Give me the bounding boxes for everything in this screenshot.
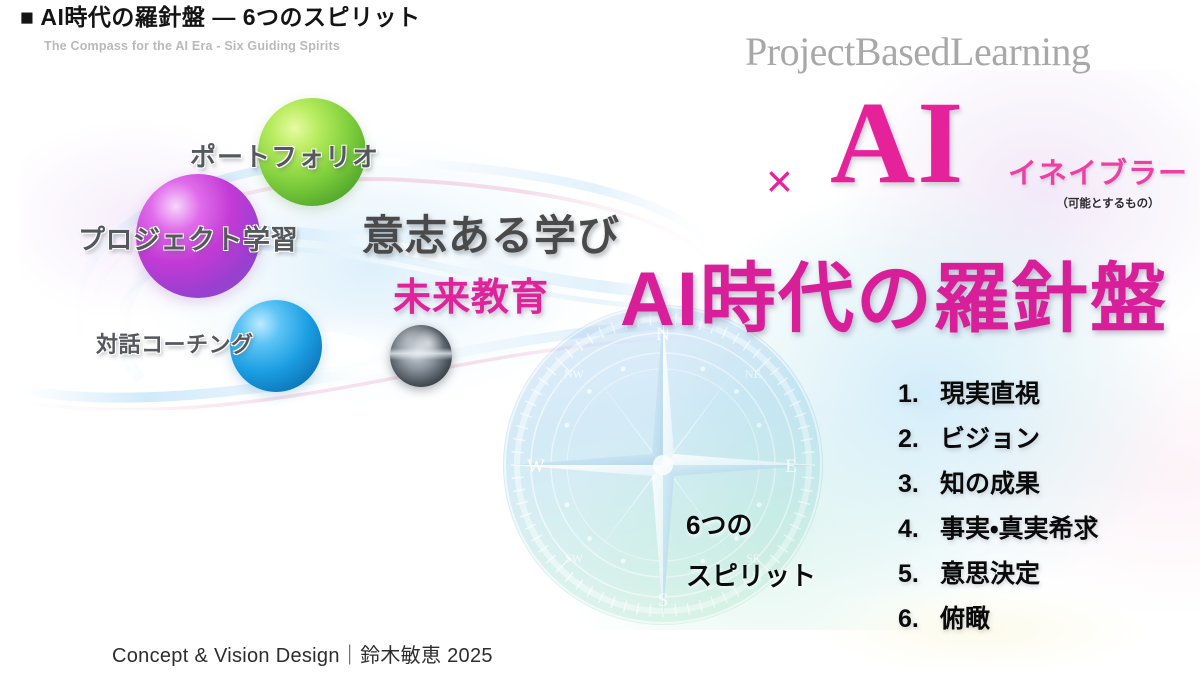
page-subtitle: The Compass for the AI Era - Six Guiding… (44, 39, 421, 53)
slide-canvas: ■ AI時代の羅針盤 ― 6つのスピリット The Compass for th… (0, 0, 1200, 676)
compass-label-ne: NE (745, 367, 761, 381)
footer-credit: Concept & Vision Design｜鈴木敏恵 2025 (112, 639, 493, 668)
sphere-moon (390, 325, 452, 387)
ai-wordmark: AI (830, 84, 965, 202)
enabler-label: イネイブラー (1008, 160, 1200, 189)
label-project-learning: プロジェクト学習 (78, 218, 298, 257)
spirit-label: 事実・真実希求 (940, 517, 1099, 542)
label-portfolio: ポートフォリオ (190, 137, 379, 174)
enabler-note: （可能とするもの） (1008, 195, 1200, 211)
enabler-block: イネイブラー （可能とするもの） (1008, 160, 1200, 211)
spirit-item-5: 5.意思決定 (898, 562, 1099, 587)
spirit-label: 俯瞰 (940, 607, 990, 632)
spirit-label: 現実直視 (940, 382, 1040, 407)
spirit-number: 6. (898, 607, 940, 632)
spirits-list: 1.現実直視2.ビジョン3.知の成果4.事実・真実希求5.意思決定6.俯瞰 (898, 382, 1099, 652)
main-title: AI時代の羅針盤 (620, 262, 1168, 338)
times-symbol-icon: × (766, 158, 793, 204)
spirit-label: ビジョン (940, 427, 1040, 452)
compass-label-sw: SW (565, 551, 584, 565)
spirit-item-3: 3.知の成果 (898, 472, 1099, 497)
spirit-number: 2. (898, 427, 940, 452)
page-title: ■ AI時代の羅針盤 ― 6つのスピリット (20, 4, 421, 32)
compass-label-nw: NW (564, 367, 585, 381)
compass-caption-line2: スピリット (686, 551, 816, 602)
spirit-number: 3. (898, 472, 940, 497)
project-based-learning-wordmark: ProjectBasedLearning (745, 28, 1090, 75)
compass-label-w: W (527, 456, 545, 477)
spirit-item-1: 1.現実直視 (898, 382, 1099, 407)
learning-main-text: 意志ある学び (362, 202, 620, 263)
spirit-item-2: 2.ビジョン (898, 427, 1099, 452)
spirit-item-6: 6.俯瞰 (898, 607, 1099, 632)
spirit-label: 意思決定 (940, 562, 1040, 587)
compass-caption-line1: 6つの (686, 500, 816, 551)
compass-label-s: S (658, 590, 669, 611)
compass-label-e: E (785, 456, 797, 477)
spirit-number: 1. (898, 382, 940, 407)
spirit-number: 4. (898, 517, 940, 542)
label-dialogue-coaching: 対話コーチング (96, 327, 254, 359)
compass-caption: 6つの スピリット (686, 500, 816, 601)
spirit-label: 知の成果 (940, 472, 1040, 497)
spirit-number: 5. (898, 562, 940, 587)
slide-header: ■ AI時代の羅針盤 ― 6つのスピリット The Compass for th… (20, 4, 421, 53)
spirit-item-4: 4.事実・真実希求 (898, 517, 1099, 542)
